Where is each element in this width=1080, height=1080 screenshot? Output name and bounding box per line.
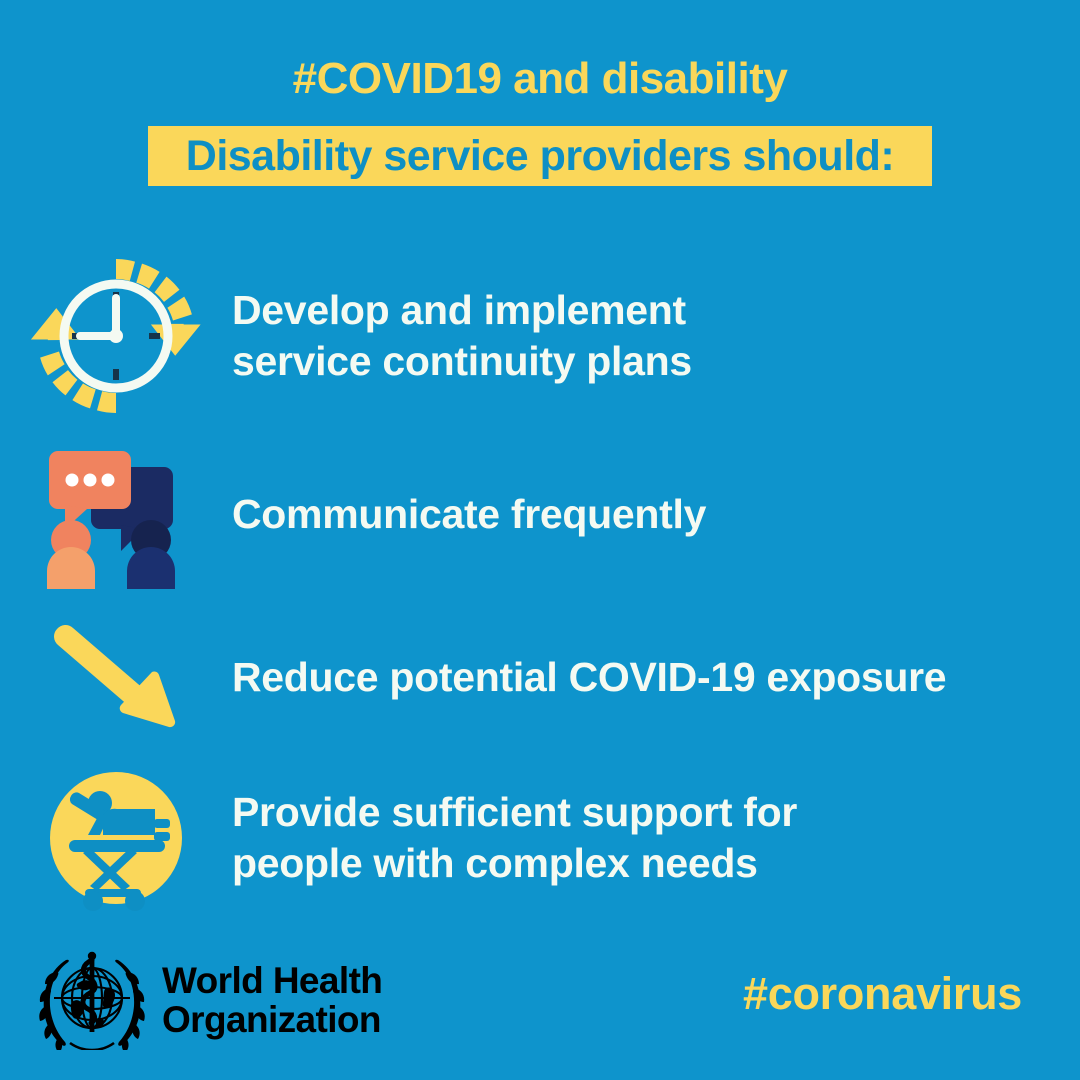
who-logo: World Health Organization	[36, 946, 382, 1055]
list-item-label: Communicate frequently	[232, 489, 706, 539]
list-item: Reduce potential COVID-19 exposure	[0, 612, 1080, 742]
who-wordmark: World Health Organization	[162, 962, 382, 1039]
clock-cycle-icon	[0, 251, 232, 421]
who-emblem-icon	[36, 946, 148, 1055]
list-item-label: Provide sufficient support for people wi…	[232, 787, 797, 887]
hashtag-coronavirus: #coronavirus	[743, 968, 1022, 1020]
down-right-arrow-icon	[0, 617, 232, 737]
list-item: Provide sufficient support for people wi…	[0, 760, 1080, 915]
list-item: Develop and implement service continuity…	[0, 258, 1080, 413]
page-title: #COVID19 and disability	[0, 56, 1080, 102]
list-item: Communicate frequently	[0, 438, 1080, 590]
list-item-label: Develop and implement service continuity…	[232, 285, 692, 385]
subtitle-text: Disability service providers should:	[186, 132, 894, 181]
people-talking-icon	[0, 439, 232, 589]
stretcher-icon	[0, 763, 232, 913]
subtitle-banner: Disability service providers should:	[148, 126, 932, 186]
infographic-poster: #COVID19 and disability Disability servi…	[0, 0, 1080, 1080]
list-item-label: Reduce potential COVID-19 exposure	[232, 652, 946, 702]
